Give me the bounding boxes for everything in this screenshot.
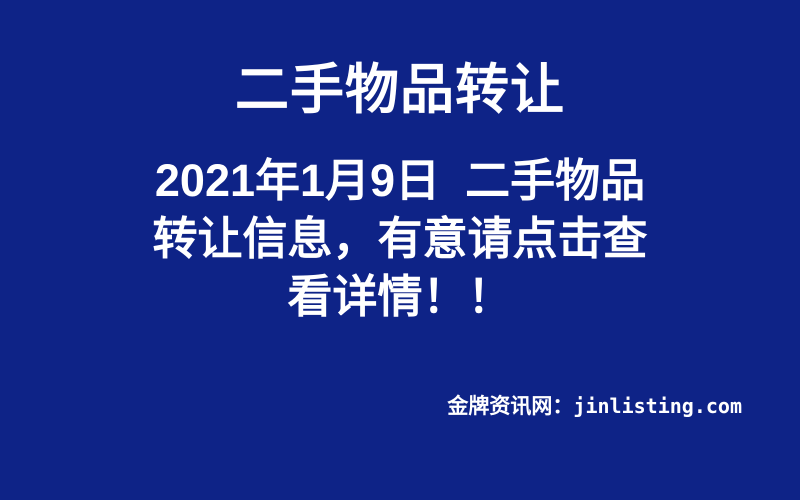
page-title: 二手物品转让 [0, 58, 800, 122]
message-line-1: 2021年1月9日 二手物品 [0, 152, 800, 210]
promo-banner: 二手物品转让 2021年1月9日 二手物品 转让信息，有意请点击查 看详情！！ … [0, 0, 800, 500]
message-line-3: 看详情！！ [0, 268, 800, 326]
banner-message: 2021年1月9日 二手物品 转让信息，有意请点击查 看详情！！ [0, 152, 800, 326]
site-url: jinlisting.com [573, 394, 742, 418]
message-line-2: 转让信息，有意请点击查 [0, 210, 800, 268]
site-watermark: 金牌资讯网：jinlisting.com [0, 392, 800, 421]
site-label: 金牌资讯网： [447, 395, 573, 418]
